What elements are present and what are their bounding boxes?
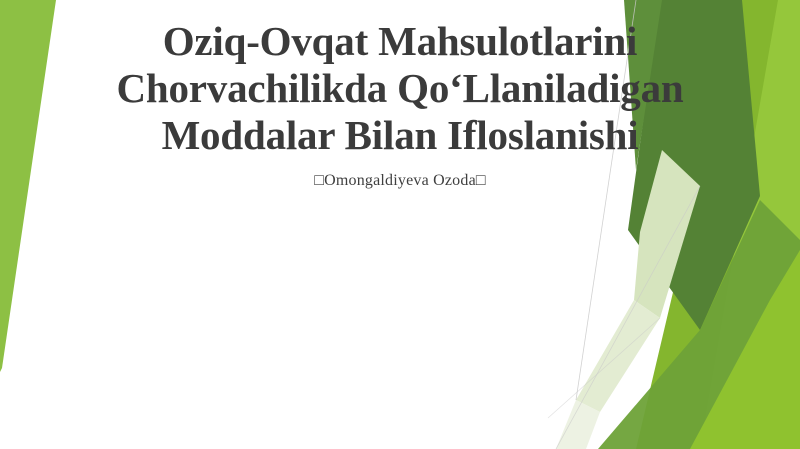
title-line-3: Moddalar Bilan Ifloslanishi <box>0 112 800 159</box>
presentation-slide: Oziq-Ovqat Mahsulotlarini Chorvachilikda… <box>0 0 800 449</box>
facet-hairline-diagonal <box>548 318 660 418</box>
right-pale-tint-band <box>576 300 660 412</box>
title-text-block: Oziq-Ovqat Mahsulotlarini Chorvachilikda… <box>0 18 800 191</box>
facet-hairline-lower <box>556 186 700 449</box>
subtitle-author: □Omongaldiyeva Ozoda□ <box>0 171 800 191</box>
right-bright-lower-facet <box>690 250 800 449</box>
title-line-1: Oziq-Ovqat Mahsulotlarini <box>0 18 800 65</box>
right-mid-green-facet <box>598 200 800 449</box>
title-line-2: Chorvachilikda Qo‘Llaniladigan <box>0 65 800 112</box>
right-pale-tint-wedge <box>556 400 600 449</box>
